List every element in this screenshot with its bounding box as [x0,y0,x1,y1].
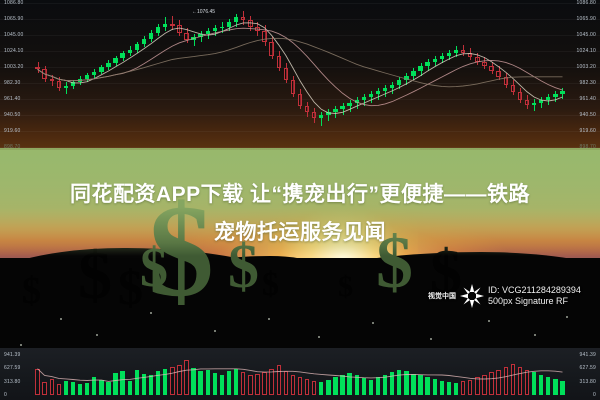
axis-tick-label: 961.40 [4,96,21,102]
axis-tick-label: 1065.90 [4,16,23,22]
axis-tick-label: 1024.10 [4,48,23,54]
watermark: 视觉中国 ID: VCG211284289394 500px Signature… [428,283,581,309]
dollar-sign-silhouette: $ [22,272,41,310]
screenshot-root: $ $ $ $ $ $ $ $ $ $ 1086.801065.901045.0… [0,0,600,400]
sparkle-dot [430,338,432,340]
axis-tick-label: 982.30 [580,80,597,86]
volume-axis-tick-label: 313.80 [4,379,21,385]
visual-china-logo-text: 视觉中国 [428,291,456,301]
axis-tick-label: 940.50 [580,112,597,118]
sparkle-dot [268,318,270,320]
watermark-id: ID: VCG211284289394 [488,285,581,296]
axis-tick-label: 961.40 [580,96,597,102]
sparkle-dot [534,334,536,336]
sparkle-dot [150,312,152,314]
axis-tick-label: 1065.90 [577,16,596,22]
volume-axis-tick-label: 627.59 [4,365,21,371]
page-title: 同花配资APP下载 让“携宠出行”更便捷——铁路 宠物托运服务见闻 [0,176,600,252]
volume-axis-tick-label: 627.59 [580,365,597,371]
volume-ma-line [0,348,600,400]
axis-tick-label: 1086.80 [577,0,596,6]
sparkle-dot [372,322,374,324]
sparkle-dot [566,316,568,318]
watermark-license: 500px Signature RF [488,296,581,307]
volume-axis-tick-label: 941.39 [580,352,597,358]
sparkle-dot [488,320,490,322]
volume-chart-panel: 941.39627.59313.800 941.39627.59313.800 [0,348,600,400]
volume-axis-tick-label: 0 [593,392,596,398]
sparkle-dot [60,318,62,320]
axis-tick-label: 1003.20 [577,64,596,70]
sparkle-dot [96,334,98,336]
axis-tick-label: 1003.20 [4,64,23,70]
volume-ma-path [38,369,563,382]
price-annotation-label: ←1076.45 [192,9,215,15]
axis-tick-label: 919.60 [580,128,597,134]
sparkle-dot [318,336,320,338]
axis-tick-label: 1045.00 [577,32,596,38]
axis-tick-label: 1024.10 [577,48,596,54]
volume-axis-tick-label: 0 [4,392,7,398]
axis-tick-label: 940.50 [4,112,21,118]
axis-tick-label: 1086.80 [4,0,23,6]
moving-average-path [38,38,563,87]
axis-tick-label: 919.60 [4,128,21,134]
moving-average-path [38,28,563,106]
dollar-sign-silhouette: $ [338,272,353,302]
headline-line-1: 同花配资APP下载 让“携宠出行”更便捷——铁路 [0,176,600,214]
star-burst-icon [459,283,485,309]
moving-average-path [38,23,563,114]
axis-tick-label: 1045.00 [4,32,23,38]
volume-axis-tick-label: 313.80 [580,379,597,385]
sparkle-dot [20,344,22,346]
dollar-sign-silhouette: $ [262,268,279,302]
headline-line-2: 宠物托运服务见闻 [0,214,600,252]
axis-tick-label: 982.30 [4,80,21,86]
sparkle-dot [214,330,216,332]
moving-average-lines [0,0,600,150]
candlestick-chart-panel: 1086.801065.901045.001024.101003.20982.3… [0,0,600,150]
volume-axis-tick-label: 941.39 [4,352,21,358]
